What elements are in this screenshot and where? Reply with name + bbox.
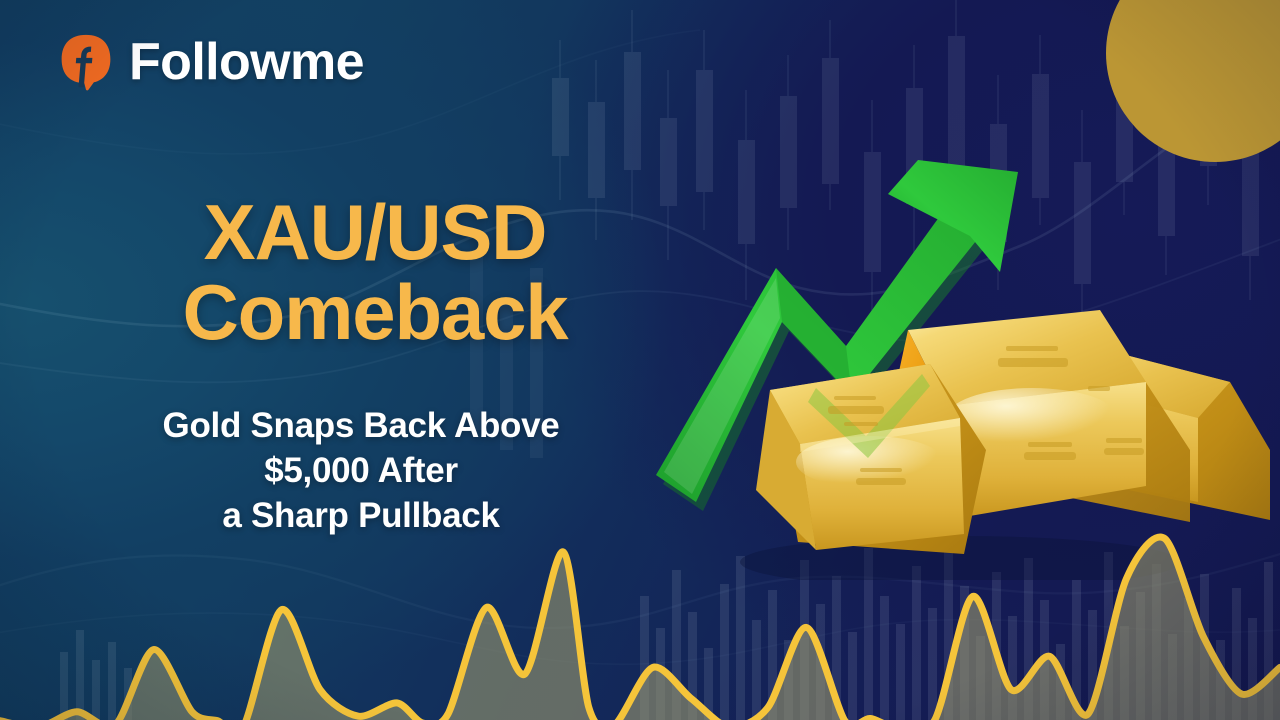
promo-banner: Followme XAU/USD Comeback Gold Snaps Bac… [0,0,1280,720]
vignette-overlay [0,0,1280,720]
